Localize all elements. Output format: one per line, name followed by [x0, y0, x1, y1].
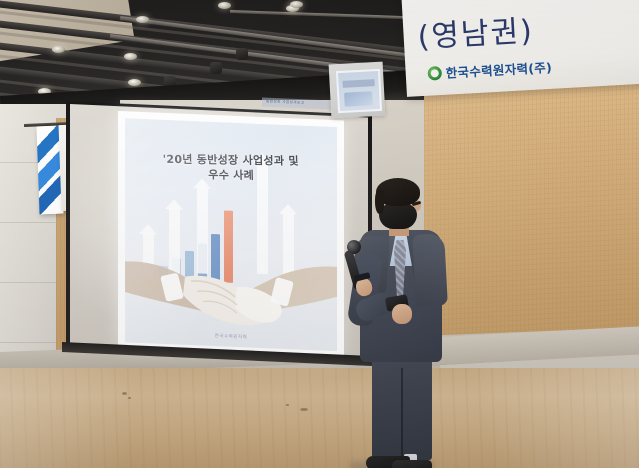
green-circle-logo-icon — [427, 65, 442, 80]
face-mask-icon — [379, 204, 417, 229]
speaker-hand — [392, 304, 412, 324]
floor-mark — [300, 408, 308, 411]
floor-mark — [122, 392, 127, 395]
ceiling-light-icon — [128, 79, 141, 86]
ceiling-light-icon — [290, 1, 303, 8]
ceiling-light-icon — [52, 46, 65, 53]
speaker — [344, 178, 454, 466]
ceiling-spotlight-icon — [236, 48, 248, 60]
floor-mark — [286, 404, 289, 406]
speaker-shoulder — [412, 233, 448, 307]
floor-mark — [128, 397, 131, 399]
projected-slide: '20년 동반성장 사업성과 및 우수 사례 한국수력원자력 — [118, 111, 344, 358]
floor — [0, 368, 639, 468]
ceiling-spotlight-icon — [210, 62, 222, 74]
banner-right-org: 한국수력원자력(주) — [445, 57, 552, 82]
speaker-floor-reflection — [350, 462, 434, 468]
ceiling-truss — [230, 10, 430, 20]
speaker-hair-side — [375, 190, 384, 214]
secondary-monitor-screen[interactable] — [336, 69, 382, 113]
slide-title: '20년 동반성장 사업성과 및 우수 사례 — [125, 151, 338, 184]
secondary-monitor-title-bar — [342, 79, 374, 88]
banner-right-logo-row: 한국수력원자력(주) — [427, 57, 552, 83]
speaker-leg-seam — [401, 368, 403, 456]
slide-title-line2: 우수 사례 — [125, 166, 337, 184]
photo-scene: 202 중소벤처기업부 (영남권) 한국수력원자력(주) — [0, 0, 639, 468]
ceiling-light-icon — [124, 53, 137, 60]
secondary-monitor-thumb — [344, 91, 373, 106]
handshake-graphic — [119, 228, 343, 333]
banner-right-headline: (영남권) — [416, 6, 534, 56]
banner-right: (영남권) 한국수력원자력(주) — [401, 0, 639, 97]
wall-wood-panel-right — [424, 72, 639, 366]
ceiling-light-icon — [136, 16, 149, 23]
ceiling-light-icon — [218, 2, 231, 9]
